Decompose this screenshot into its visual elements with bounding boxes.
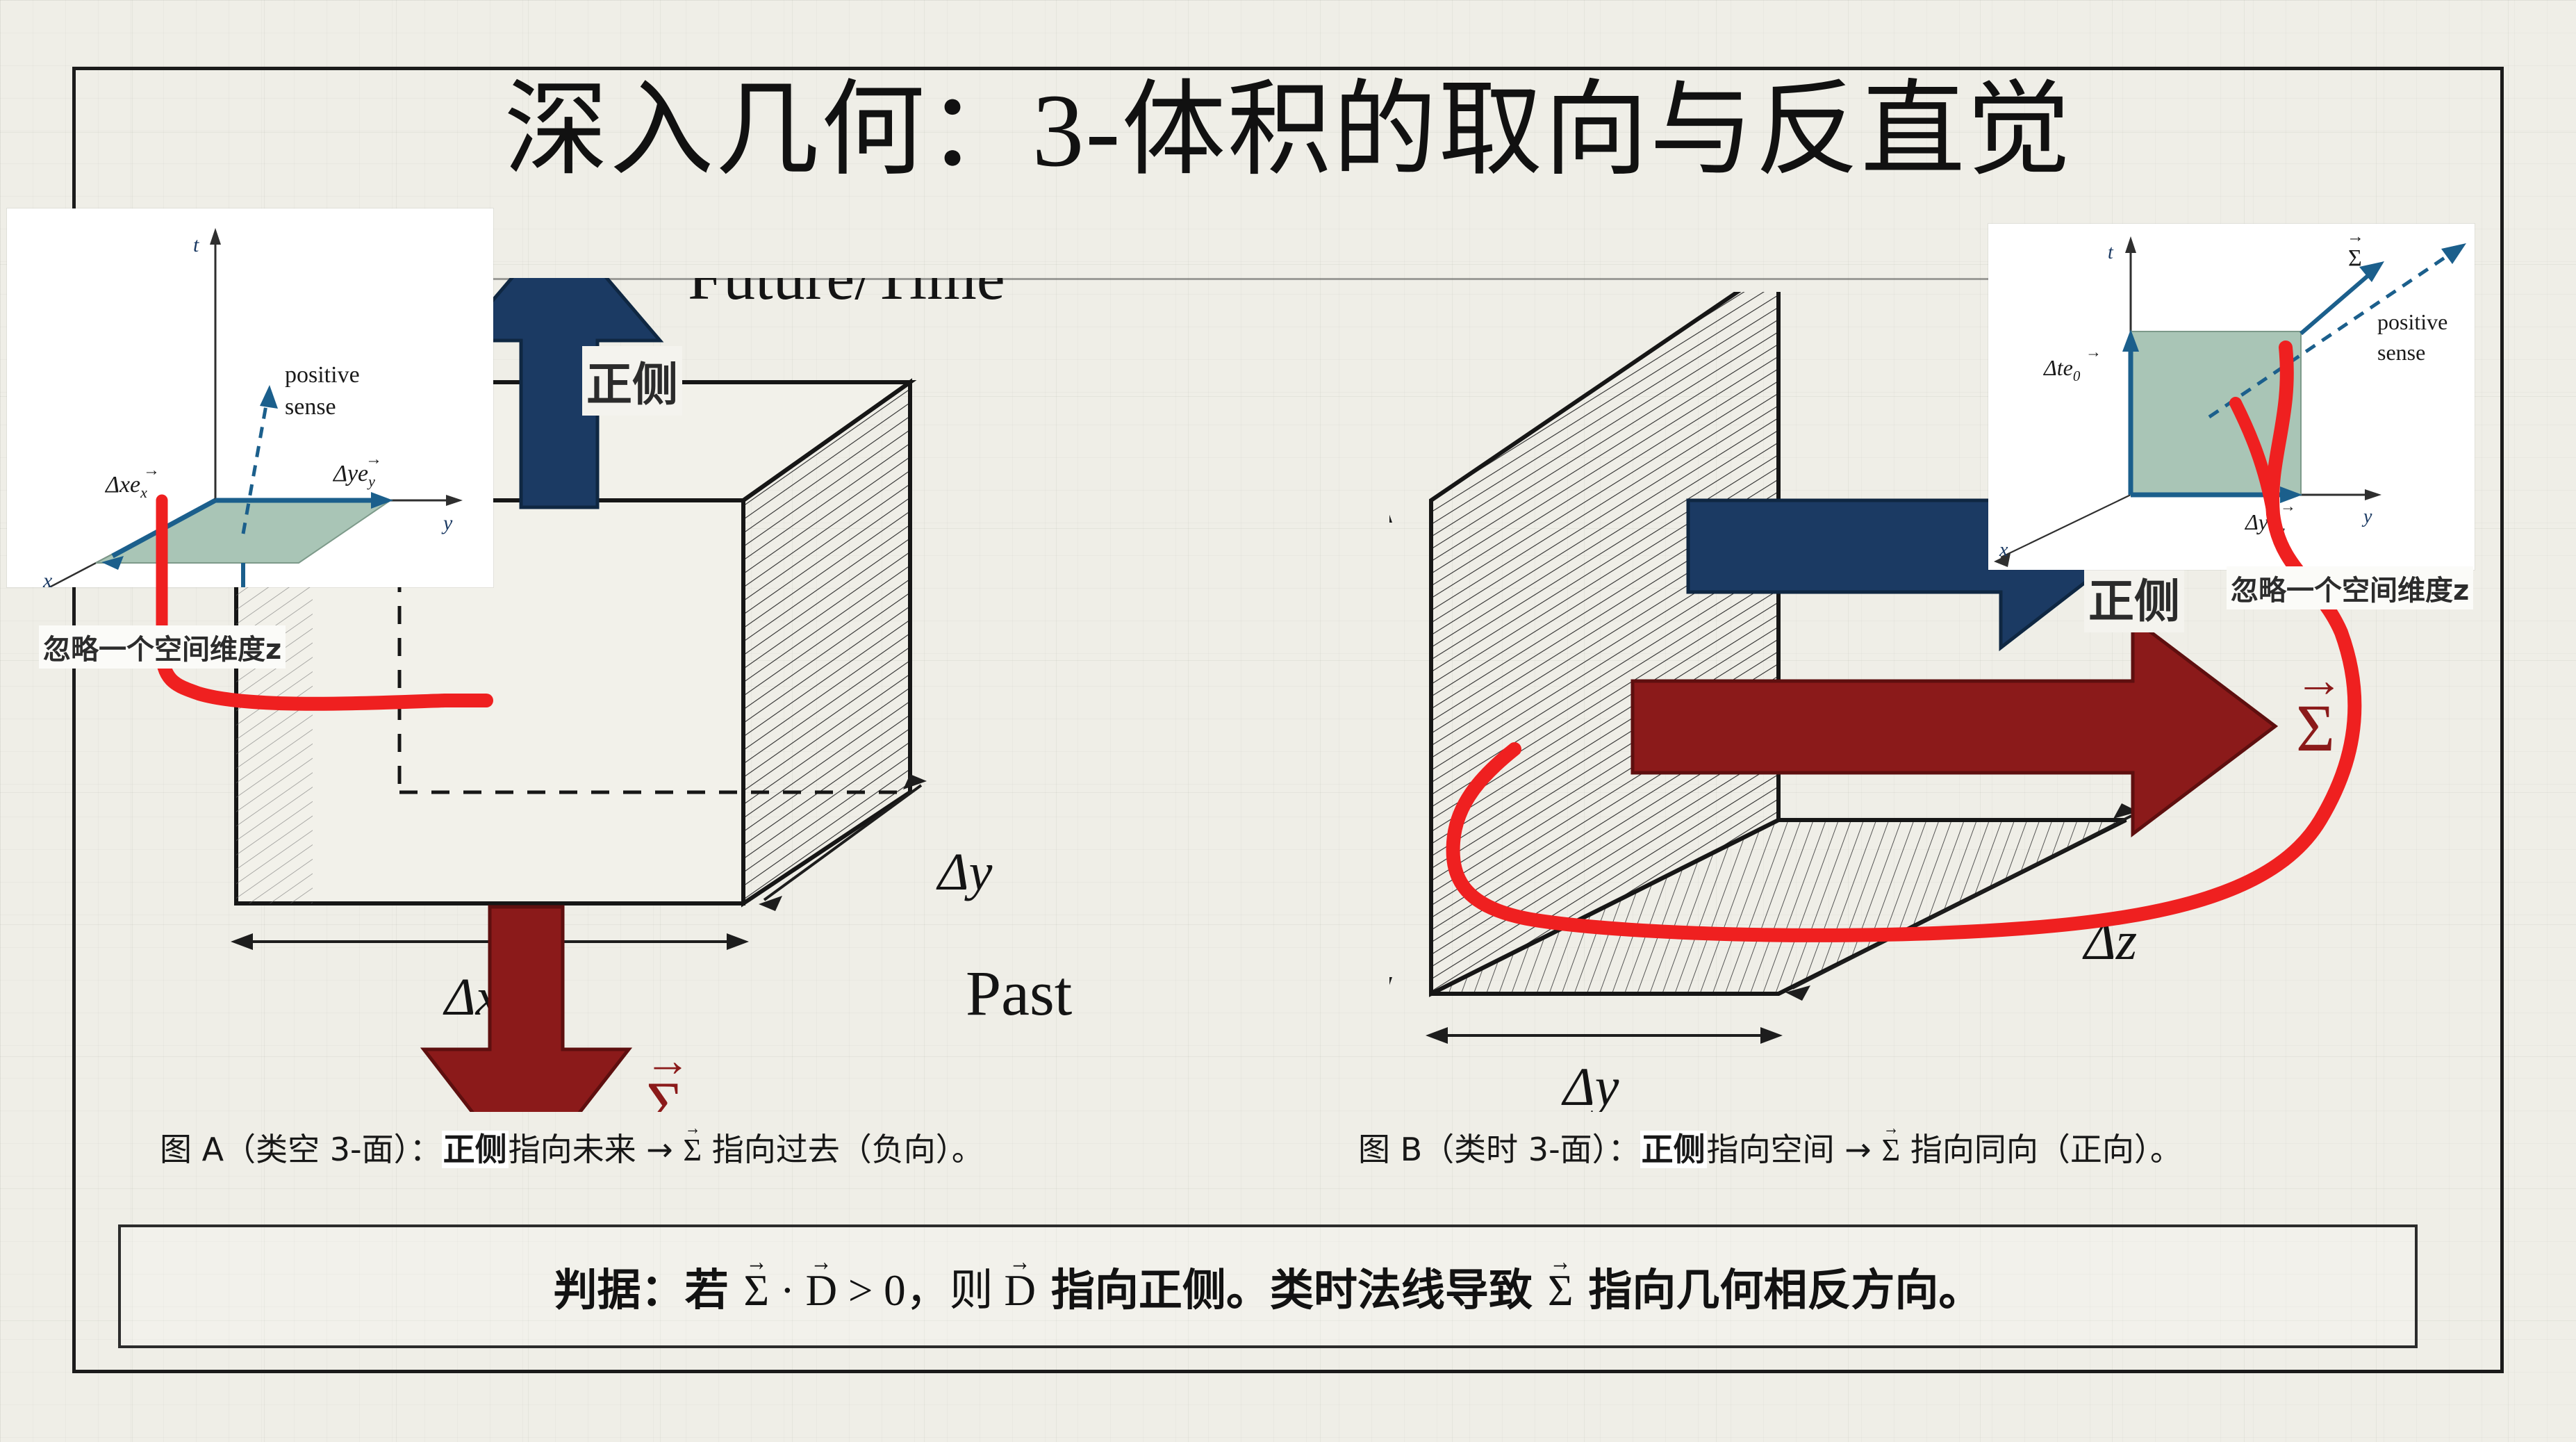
inset-left-axis-t: t	[193, 233, 199, 256]
panel-a-normal-arrow-glyph: →	[645, 1035, 691, 1086]
inset-right-edge-t: Δte0	[2042, 355, 2081, 384]
panel-a-past-label: Past	[966, 958, 1073, 1029]
panel-b-positive-side-tag: 正侧	[2084, 563, 2184, 632]
svg-text:sense: sense	[285, 394, 336, 420]
conclusion-inequality: > 0，则	[837, 1266, 1004, 1315]
caption-a-sigma: Σ	[683, 1131, 702, 1168]
svg-text:→: →	[2280, 498, 2296, 515]
svg-text:sense: sense	[2377, 340, 2425, 365]
panel-b-dim-z: Δz	[2082, 910, 2137, 971]
caption-figure-a: 图 A（类空 3-面）：正侧指向未来 → Σ 指向过去（负向）。	[160, 1124, 984, 1170]
svg-text:→: →	[365, 450, 382, 468]
caption-a-rest2: 指向过去（负向）。	[702, 1131, 984, 1168]
caption-b-highlight: 正侧	[1640, 1131, 1707, 1168]
timelike-3-surface-inset: t y x Δte0 → Δyey → Σ → positive sense	[1988, 224, 2475, 570]
conclusion-box: 判据：若 Σ · D > 0，则 D 指向正侧。类时法线导致 Σ 指向几何相反方…	[118, 1224, 2418, 1348]
inset-left-positive-sense: positive	[285, 362, 360, 388]
caption-a-highlight: 正侧	[442, 1131, 509, 1168]
conclusion-sigma-vector-2: Σ	[1548, 1265, 1574, 1316]
inset-right-positive-sense: positive	[2377, 309, 2447, 334]
caption-b-sigma: Σ	[1881, 1131, 1900, 1168]
conclusion-d-vector-2: D	[1004, 1265, 1036, 1316]
inset-right-edge-y: Δyey	[2244, 509, 2285, 539]
conclusion-d-vector: D	[806, 1265, 838, 1316]
caption-b-rest1: 指向空间 →	[1707, 1131, 1882, 1168]
inset-left-edge-x: Δxex	[104, 472, 147, 501]
caption-b-prefix: 图 B（类时 3-面）：	[1358, 1131, 1640, 1168]
conclusion-dot: ·	[769, 1266, 805, 1315]
caption-a-prefix: 图 A（类空 3-面）：	[160, 1131, 442, 1168]
panel-a-dim-y: Δy	[936, 843, 993, 901]
spacelike-3-surface-inset: t y x Δyey → Δxex → positive sense Σ →	[7, 208, 493, 587]
inset-right-axis-t: t	[2108, 242, 2114, 263]
conclusion-lead: 判据：	[554, 1265, 685, 1316]
panel-a-future-label: Future/Time	[688, 278, 1005, 313]
caption-figure-b: 图 B（类时 3-面）：正侧指向空间 → Σ 指向同向（正向）。	[1358, 1124, 2182, 1170]
panel-b-normal-arrow-glyph: →	[2295, 654, 2343, 707]
inset-right-axis-x: x	[1999, 539, 2008, 561]
svg-text:→: →	[2347, 227, 2364, 246]
conclusion-part1: 若	[685, 1265, 744, 1316]
inset-right-axis-y: y	[2361, 506, 2372, 527]
svg-text:→: →	[2086, 343, 2102, 361]
red-annotation-left: 忽略一个空间维度z	[39, 625, 286, 669]
conclusion-part2: 指向正侧。类时法线导致	[1036, 1265, 1548, 1316]
conclusion-part3: 指向几何相反方向。	[1573, 1265, 1982, 1316]
inset-right-normal: Σ	[2348, 245, 2362, 271]
caption-a-rest1: 指向未来 →	[509, 1131, 684, 1168]
svg-text:→: →	[143, 461, 160, 480]
conclusion-text: 判据：若 Σ · D > 0，则 D 指向正侧。类时法线导致 Σ 指向几何相反方…	[554, 1255, 1983, 1318]
inset-left-axis-y: y	[441, 511, 453, 534]
panel-a-positive-side-tag: 正侧	[582, 346, 682, 416]
panel-b-dim-y: Δy	[1561, 1056, 1619, 1112]
inset-left-axis-x: x	[42, 569, 53, 587]
conclusion-sigma-vector: Σ	[744, 1265, 770, 1316]
caption-b-rest2: 指向同向（正向）。	[1900, 1131, 2182, 1168]
red-annotation-right: 忽略一个空间维度z	[2227, 566, 2473, 609]
